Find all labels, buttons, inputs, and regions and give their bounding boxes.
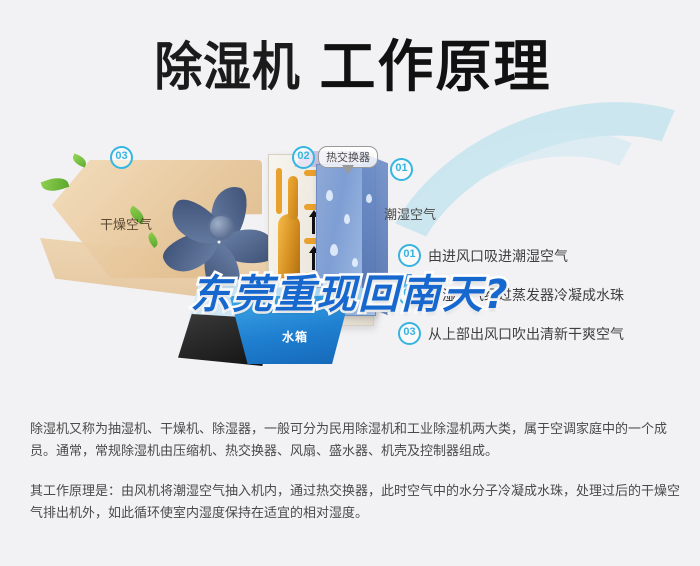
water-droplet: [330, 244, 338, 256]
caption-dry-air: 干燥空气: [100, 214, 152, 233]
water-droplet: [322, 276, 329, 286]
fan-hub: [208, 214, 234, 240]
list-item: 03 从上部出风口吹出清新干爽空气: [398, 322, 698, 345]
step-text: 潮湿空气经过蒸发器冷凝成水珠: [428, 285, 624, 305]
step-number: 02: [398, 283, 421, 306]
water-tank-label: 水箱: [282, 328, 308, 345]
page-title: 除湿机工作原理: [0, 22, 700, 103]
heat-exchanger-side: [362, 153, 388, 316]
list-item: 02 潮湿空气经过蒸发器冷凝成水珠: [398, 283, 698, 306]
list-item: 01 由进风口吸进潮湿空气: [398, 244, 698, 267]
fan-icon: [160, 164, 278, 286]
compressor-cylinder: [278, 214, 300, 288]
callout-tail-icon: [342, 165, 354, 174]
flow-arrow-up: [312, 216, 315, 234]
body-paragraph-1: 除湿机又称为抽湿机、干燥机、除湿器，一般可分为民用除湿机和工业除湿机两大类，属于…: [30, 418, 680, 462]
step-text: 从上部出风口吹出清新干爽空气: [428, 324, 624, 344]
badge-02: 02: [292, 146, 315, 169]
step-number: 01: [398, 244, 421, 267]
water-droplet: [326, 190, 333, 201]
flow-arrow-up: [312, 252, 315, 270]
refrigerant-pipe: [288, 176, 298, 220]
caption-humid-air: 潮湿空气: [384, 204, 436, 223]
water-droplet: [352, 258, 358, 267]
step-number: 03: [398, 322, 421, 345]
body-copy: 除湿机又称为抽湿机、干燥机、除湿器，一般可分为民用除湿机和工业除湿机两大类，属于…: [30, 418, 680, 524]
process-step-list: 01 由进风口吸进潮湿空气 02 潮湿空气经过蒸发器冷凝成水珠 03 从上部出风…: [398, 244, 698, 361]
badge-01: 01: [390, 158, 413, 181]
page-title-part2: 工作原理: [320, 22, 552, 103]
badge-03: 03: [110, 146, 133, 169]
body-paragraph-2: 其工作原理是：由风机将潮湿空气抽入机内，通过热交换器，此时空气中的水分子冷凝成水…: [30, 480, 680, 524]
page-title-part1: 除湿机: [155, 25, 301, 100]
water-droplet: [366, 194, 372, 203]
coil-pipe: [276, 168, 282, 214]
step-text: 由进风口吸进潮湿空气: [428, 246, 568, 266]
infographic-page: 除湿机工作原理: [0, 0, 700, 566]
water-droplet: [344, 214, 350, 224]
